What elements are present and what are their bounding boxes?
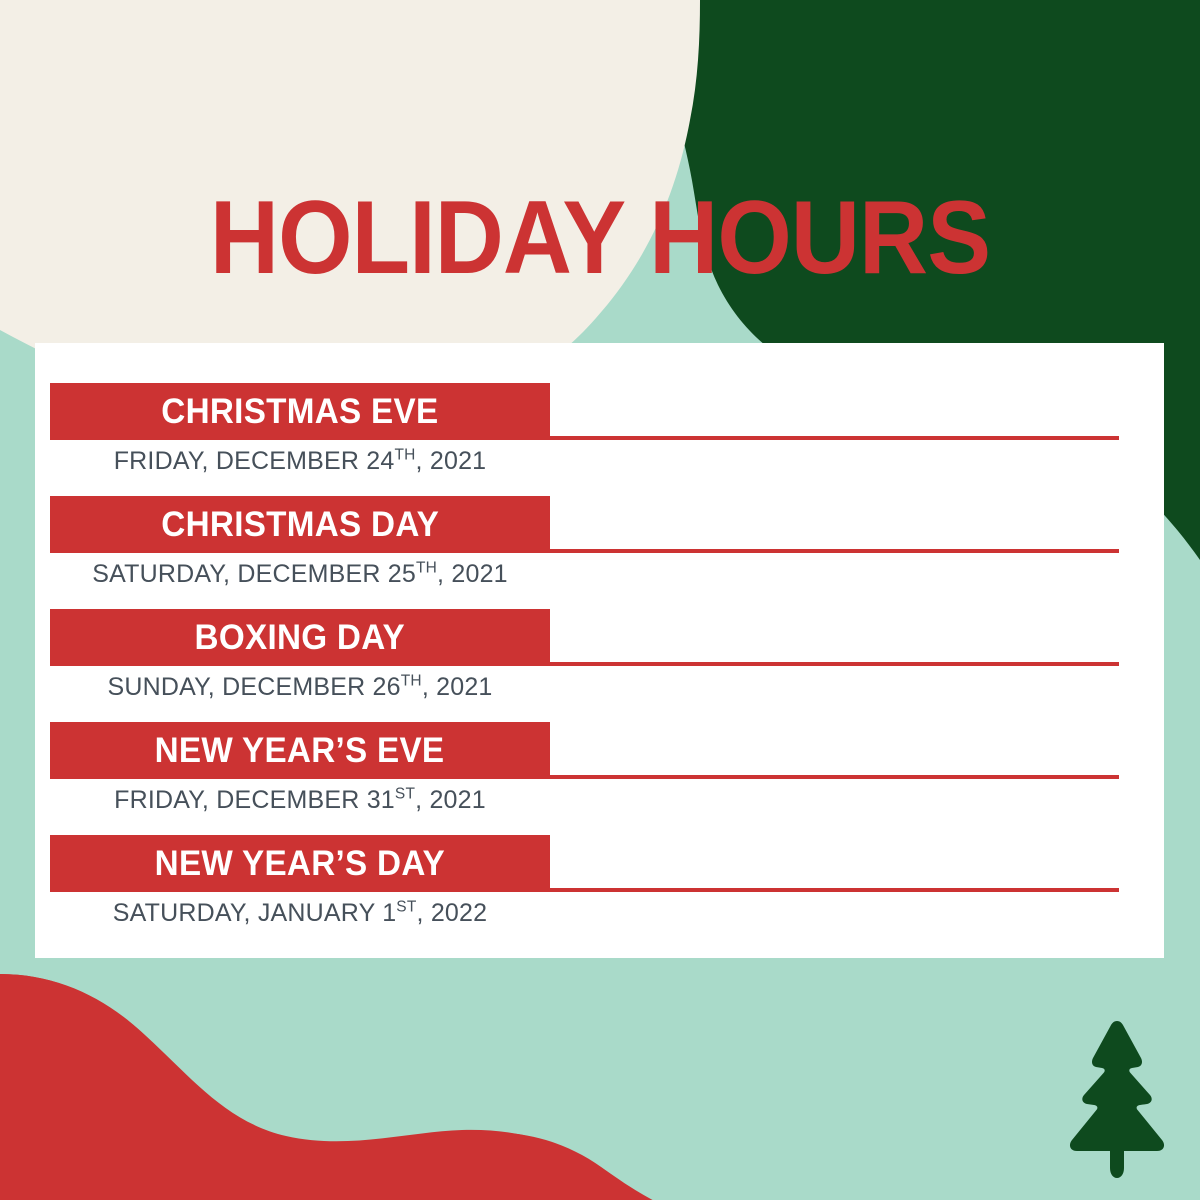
date-day: 24 <box>366 447 394 475</box>
date-ordinal: TH <box>394 447 415 464</box>
holiday-name-bar: CHRISTMAS DAY <box>50 496 550 553</box>
hours-write-in-line[interactable] <box>550 549 1119 553</box>
date-month: JANUARY <box>258 899 375 927</box>
date-day: 1 <box>382 899 396 927</box>
holiday-name-bar: NEW YEAR’S DAY <box>50 835 550 892</box>
holiday-date: SUNDAY, DECEMBER 26TH, 2021 <box>50 671 550 703</box>
date-day: 25 <box>388 560 416 588</box>
date-year: 2022 <box>431 899 487 927</box>
page-title: HOLIDAY HOURS <box>48 186 1152 290</box>
schedule-row: BOXING DAY SUNDAY, DECEMBER 26TH, 2021 <box>35 599 1164 712</box>
schedule-rows: CHRISTMAS EVE FRIDAY, DECEMBER 24TH, 202… <box>35 343 1164 958</box>
schedule-row: NEW YEAR’S EVE FRIDAY, DECEMBER 31ST, 20… <box>35 712 1164 825</box>
schedule-row: CHRISTMAS EVE FRIDAY, DECEMBER 24TH, 202… <box>35 373 1164 486</box>
date-ordinal: ST <box>395 786 415 803</box>
date-weekday: FRIDAY, <box>114 786 209 814</box>
date-year: 2021 <box>436 673 492 701</box>
date-year: 2021 <box>451 560 507 588</box>
schedule-row: CHRISTMAS DAY SATURDAY, DECEMBER 25TH, 2… <box>35 486 1164 599</box>
date-month: DECEMBER <box>216 447 359 475</box>
holiday-name-label: CHRISTMAS EVE <box>161 394 438 429</box>
hours-write-in-line[interactable] <box>550 775 1119 779</box>
holiday-name-label: BOXING DAY <box>195 620 405 655</box>
holiday-name-bar: CHRISTMAS EVE <box>50 383 550 440</box>
holiday-name-label: CHRISTMAS DAY <box>161 507 439 542</box>
date-weekday: FRIDAY, <box>114 447 209 475</box>
date-comma: , <box>416 447 423 475</box>
hours-write-in-line[interactable] <box>550 436 1119 440</box>
date-month: DECEMBER <box>237 560 380 588</box>
date-month: DECEMBER <box>222 673 365 701</box>
date-day: 31 <box>367 786 395 814</box>
date-comma: , <box>415 786 422 814</box>
schedule-card: CHRISTMAS EVE FRIDAY, DECEMBER 24TH, 202… <box>35 343 1164 958</box>
holiday-date: SATURDAY, JANUARY 1ST, 2022 <box>50 897 550 929</box>
holiday-date: FRIDAY, DECEMBER 31ST, 2021 <box>50 784 550 816</box>
hours-write-in-line[interactable] <box>550 888 1119 892</box>
date-month: DECEMBER <box>216 786 359 814</box>
holiday-date: FRIDAY, DECEMBER 24TH, 2021 <box>50 445 550 477</box>
holiday-name-label: NEW YEAR’S DAY <box>155 846 445 881</box>
date-ordinal: ST <box>396 899 416 916</box>
holiday-name-bar: NEW YEAR’S EVE <box>50 722 550 779</box>
date-day: 26 <box>373 673 401 701</box>
date-weekday: SATURDAY, <box>92 560 230 588</box>
date-weekday: SATURDAY, <box>113 899 251 927</box>
date-ordinal: TH <box>416 560 437 577</box>
date-comma: , <box>417 899 424 927</box>
date-weekday: SUNDAY, <box>107 673 214 701</box>
date-year: 2021 <box>430 447 486 475</box>
date-year: 2021 <box>429 786 485 814</box>
hours-write-in-line[interactable] <box>550 662 1119 666</box>
date-comma: , <box>437 560 444 588</box>
holiday-name-bar: BOXING DAY <box>50 609 550 666</box>
holiday-name-label: NEW YEAR’S EVE <box>155 733 445 768</box>
date-comma: , <box>422 673 429 701</box>
date-ordinal: TH <box>401 673 422 690</box>
christmas-tree-icon <box>1062 1018 1172 1183</box>
holiday-date: SATURDAY, DECEMBER 25TH, 2021 <box>50 558 550 590</box>
holiday-hours-poster: HOLIDAY HOURS CHRISTMAS EVE FRIDAY, DECE… <box>0 0 1200 1200</box>
schedule-row: NEW YEAR’S DAY SATURDAY, JANUARY 1ST, 20… <box>35 825 1164 938</box>
